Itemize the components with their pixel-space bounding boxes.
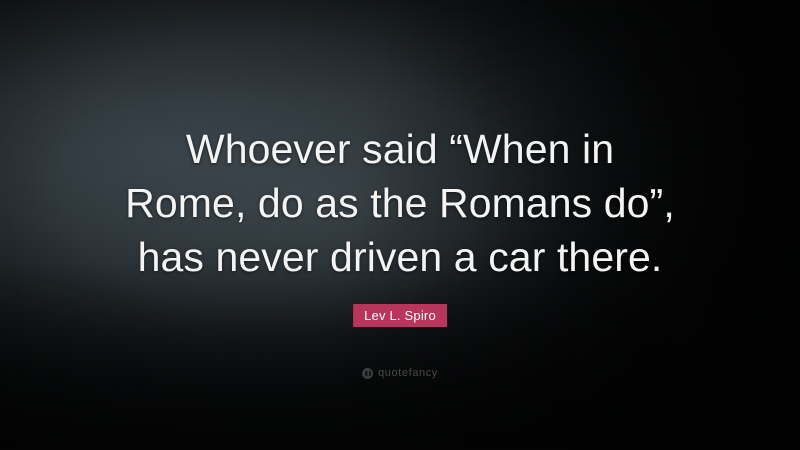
quote-text-block: Whoever said “When in Rome, do as the Ro… xyxy=(0,122,800,284)
quote-line-2: Rome, do as the Romans do”, xyxy=(40,176,760,230)
author-badge[interactable]: Lev L. Spiro xyxy=(353,304,447,327)
quotefancy-watermark[interactable]: quotefancy xyxy=(362,367,438,379)
quote-image-canvas: Whoever said “When in Rome, do as the Ro… xyxy=(0,0,800,450)
quotefancy-brand-label: quotefancy xyxy=(378,367,438,379)
quotefancy-logo-icon xyxy=(362,368,373,379)
content-layer: Whoever said “When in Rome, do as the Ro… xyxy=(0,0,800,450)
quote-line-3: has never driven a car there. xyxy=(40,230,760,284)
quotefancy-logo-glyph xyxy=(365,371,371,376)
quote-line-1: Whoever said “When in xyxy=(40,122,760,176)
